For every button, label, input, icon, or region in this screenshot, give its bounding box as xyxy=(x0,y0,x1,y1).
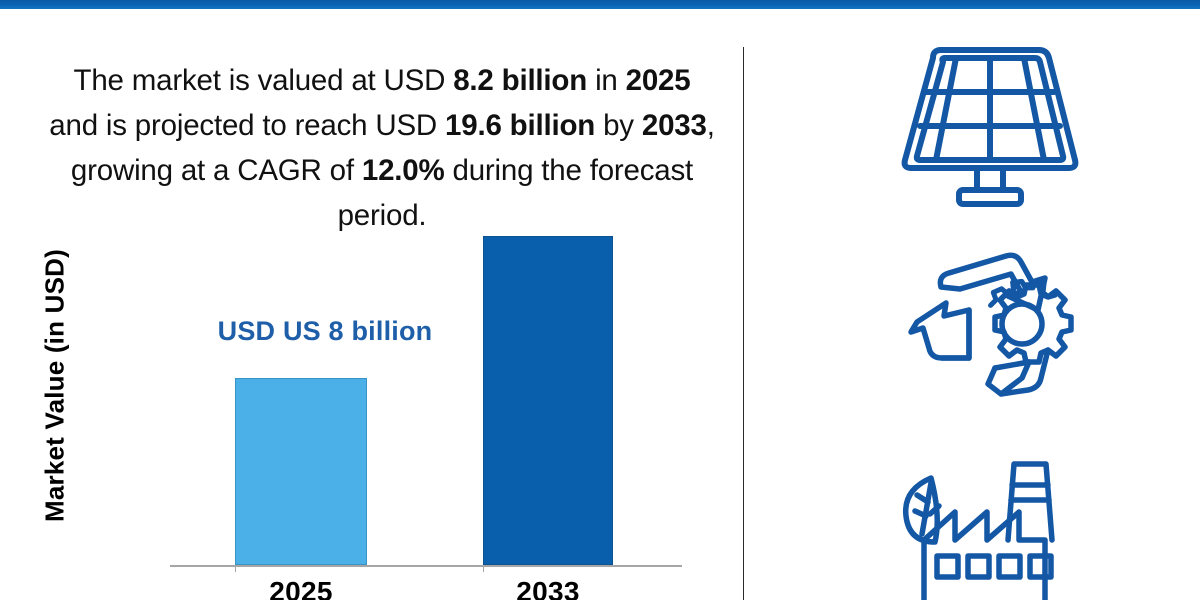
icon-column xyxy=(860,20,1120,600)
eco-factory-icon xyxy=(860,450,1120,600)
recycle-gear-icon xyxy=(860,232,1120,412)
x-axis-line xyxy=(170,565,682,567)
market-value-bar-chart: Market Value (in USD) USD US 8 billion 2… xyxy=(0,0,743,600)
vertical-divider xyxy=(743,47,744,600)
bar-value-label-2025: USD US 8 billion xyxy=(180,316,470,347)
x-axis-label-2033: 2033 xyxy=(448,576,648,600)
x-axis-tick-2025 xyxy=(235,566,236,572)
infographic-canvas: The market is valued at USD 8.2 billion … xyxy=(0,0,1200,600)
bar-2033[interactable] xyxy=(483,236,613,565)
solar-panel-icon xyxy=(860,42,1120,212)
x-axis-tick-2033 xyxy=(483,566,484,572)
y-axis-title: Market Value (in USD) xyxy=(40,221,71,551)
x-axis-label-2025: 2025 xyxy=(201,576,401,600)
bar-2025[interactable] xyxy=(235,378,367,565)
